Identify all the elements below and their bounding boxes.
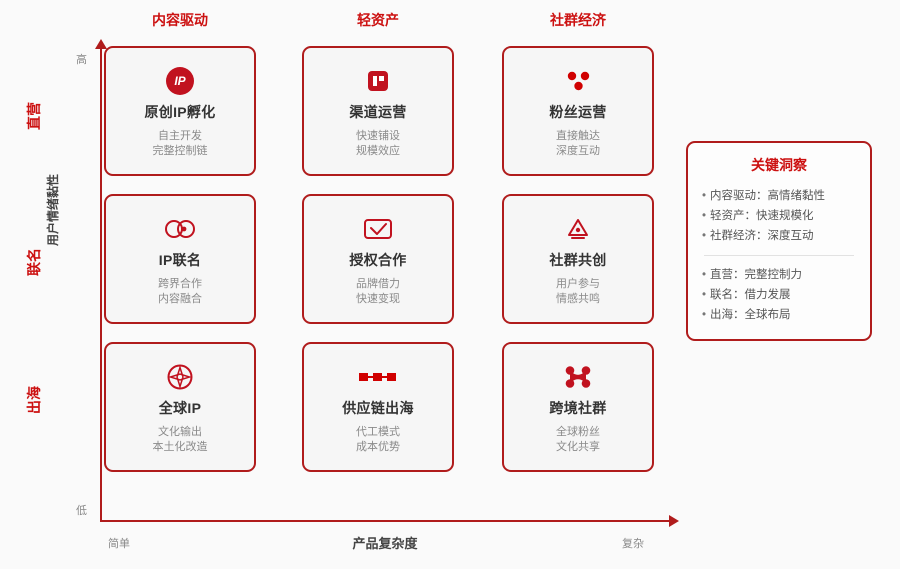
- list-item-label: 直营：完整控制力: [710, 269, 802, 281]
- x-axis-title: 产品复杂度: [100, 533, 670, 552]
- cell-subtitle-1: 文化输出: [158, 425, 202, 440]
- x-axis-line: [100, 520, 670, 522]
- list-item-label: 内容驱动：高情绪黏性: [710, 190, 825, 202]
- cell-subtitle-1: 品牌借力: [356, 277, 400, 292]
- cell-title: 跨境社群: [549, 398, 606, 418]
- network-nodes-icon: [563, 360, 593, 394]
- matrix-cell-ip-collaboration[interactable]: IP联名 跨界合作 内容融合: [104, 194, 256, 324]
- bullet-icon: •: [702, 230, 706, 242]
- cell-subtitle-2: 深度互动: [556, 144, 600, 159]
- y-axis-tick-low: 低: [76, 502, 87, 518]
- list-item-label: 轻资产：快速规模化: [710, 210, 814, 222]
- cell-title: IP联名: [159, 250, 201, 270]
- cell-title: 原创IP孵化: [144, 102, 215, 122]
- y-axis-tick-high: 高: [76, 51, 87, 67]
- list-item: •联名：借力发展: [702, 285, 856, 305]
- cell-title: 社群共创: [549, 250, 606, 270]
- bullet-icon: •: [702, 289, 706, 301]
- y-axis-title: 用户情绪黏性: [44, 174, 61, 246]
- x-axis-arrow-icon: [669, 515, 679, 527]
- cell-title: 粉丝运营: [549, 102, 606, 122]
- cell-title: 授权合作: [349, 250, 406, 270]
- column-header-community-economy: 社群经济: [498, 10, 658, 30]
- matrix-cell-community-cocreation[interactable]: 社群共创 用户参与 情感共鸣: [502, 194, 654, 324]
- key-insight-title: 关键洞察: [702, 155, 856, 175]
- row-label-direct-operation: 直营: [24, 102, 44, 130]
- cell-subtitle-2: 成本优势: [356, 440, 400, 455]
- matrix-cell-global-ip[interactable]: 全球IP 文化输出 本土化改造: [104, 342, 256, 472]
- matrix-cell-cross-border-community[interactable]: 跨境社群 全球粉丝 文化共享: [502, 342, 654, 472]
- cell-subtitle-2: 完整控制链: [153, 144, 208, 159]
- ip-badge-icon: IP: [166, 64, 194, 98]
- check-box-icon: [362, 212, 394, 246]
- list-item: •直营：完整控制力: [702, 265, 856, 285]
- cell-subtitle-1: 跨界合作: [158, 277, 202, 292]
- key-insight-panel: 关键洞察 •内容驱动：高情绪黏性 •轻资产：快速规模化 •社群经济：深度互动 •…: [686, 141, 872, 341]
- globe-compass-icon: [165, 360, 195, 394]
- list-item-label: 出海：全球布局: [710, 309, 791, 321]
- cell-subtitle-1: 全球粉丝: [556, 425, 600, 440]
- cell-subtitle-1: 代工模式: [356, 425, 400, 440]
- three-dots-icon: [563, 64, 593, 98]
- row-label-co-branding: 联名: [24, 248, 44, 276]
- cell-subtitle-2: 内容融合: [158, 292, 202, 307]
- key-insight-group-1: •内容驱动：高情绪黏性 •轻资产：快速规模化 •社群经济：深度互动: [702, 186, 856, 246]
- cell-subtitle-2: 快速变现: [356, 292, 400, 307]
- y-axis-arrow-icon: [95, 39, 107, 49]
- key-insight-group-2: •直营：完整控制力 •联名：借力发展 •出海：全球布局: [702, 265, 856, 325]
- cell-title: 渠道运营: [349, 102, 406, 122]
- list-item: •社群经济：深度互动: [702, 226, 856, 246]
- column-header-content-driven: 内容驱动: [100, 10, 260, 30]
- cell-subtitle-2: 情感共鸣: [556, 292, 600, 307]
- cell-subtitle-2: 文化共享: [556, 440, 600, 455]
- matrix-cell-fan-operation[interactable]: 粉丝运营 直接触达 深度互动: [502, 46, 654, 176]
- matrix-cell-channel-operation[interactable]: 渠道运营 快速铺设 规模效应: [302, 46, 454, 176]
- bullet-icon: •: [702, 190, 706, 202]
- matrix-cell-original-ip-incubation[interactable]: IP 原创IP孵化 自主开发 完整控制链: [104, 46, 256, 176]
- triangle-alert-icon: [564, 212, 592, 246]
- bullet-icon: •: [702, 309, 706, 321]
- list-item: •轻资产：快速规模化: [702, 206, 856, 226]
- row-label-going-global: 出海: [24, 386, 44, 414]
- linked-circles-icon: [163, 212, 197, 246]
- list-item-label: 社群经济：深度互动: [710, 230, 814, 242]
- supply-chain-icon: [358, 360, 398, 394]
- matrix-cell-licensing-cooperation[interactable]: 授权合作 品牌借力 快速变现: [302, 194, 454, 324]
- matrix-canvas: 高 低 简单 复杂 产品复杂度 用户情绪黏性 内容驱动 轻资产 社群经济 直营 …: [0, 0, 900, 569]
- bullet-icon: •: [702, 210, 706, 222]
- cell-subtitle-1: 用户参与: [556, 277, 600, 292]
- list-item: •出海：全球布局: [702, 305, 856, 325]
- list-item: •内容驱动：高情绪黏性: [702, 186, 856, 206]
- cell-subtitle-1: 直接触达: [556, 129, 600, 144]
- bullet-icon: •: [702, 269, 706, 281]
- channel-grid-icon: [365, 64, 391, 98]
- cell-subtitle-1: 自主开发: [158, 129, 202, 144]
- cell-subtitle-2: 规模效应: [356, 144, 400, 159]
- cell-subtitle-1: 快速铺设: [356, 129, 400, 144]
- ip-badge-label: IP: [166, 67, 194, 95]
- cell-subtitle-2: 本土化改造: [153, 440, 208, 455]
- list-item-label: 联名：借力发展: [710, 289, 791, 301]
- cell-title: 供应链出海: [342, 398, 414, 418]
- divider: [704, 255, 854, 256]
- cell-title: 全球IP: [159, 398, 201, 418]
- column-header-asset-light: 轻资产: [298, 10, 458, 30]
- y-axis-line: [100, 48, 102, 522]
- matrix-cell-supply-chain-going-global[interactable]: 供应链出海 代工模式 成本优势: [302, 342, 454, 472]
